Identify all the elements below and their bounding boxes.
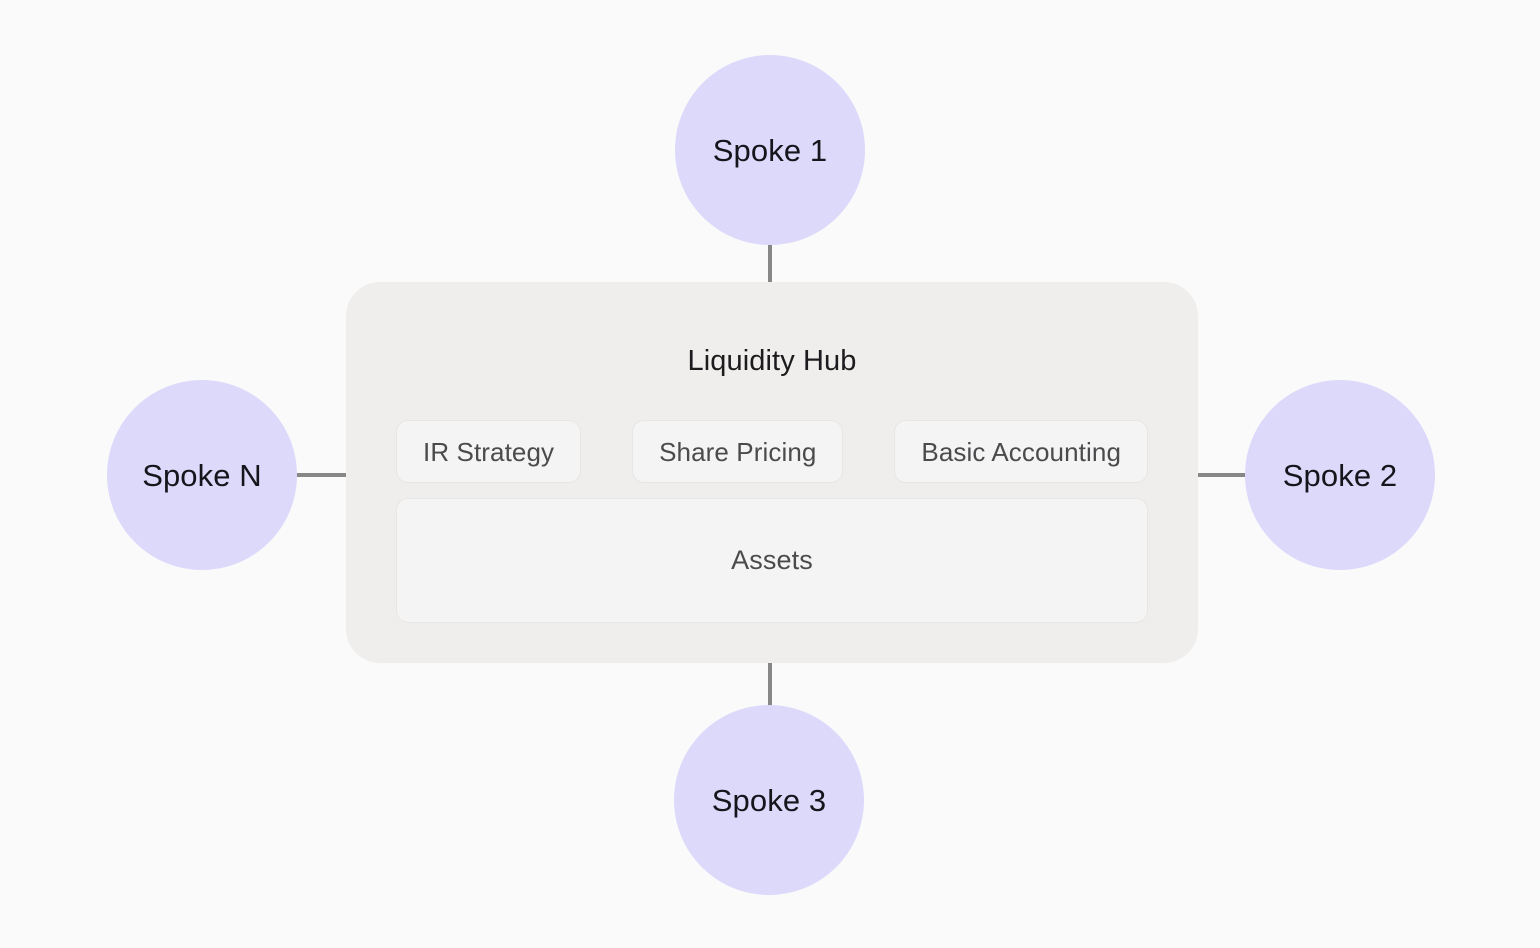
connector-hub-to-spoke-2 bbox=[1196, 473, 1248, 477]
connector-hub-to-spoke-1 bbox=[768, 243, 772, 285]
hub-capability-basic-accounting[interactable]: Basic Accounting bbox=[894, 420, 1148, 483]
hub-capability-row: IR Strategy Share Pricing Basic Accounti… bbox=[396, 420, 1148, 483]
spoke-node-2-label: Spoke 2 bbox=[1283, 460, 1397, 491]
spoke-node-3[interactable]: Spoke 3 bbox=[674, 705, 864, 895]
connector-hub-to-spoke-3 bbox=[768, 661, 772, 707]
hub-capability-basic-accounting-label: Basic Accounting bbox=[921, 439, 1121, 465]
hub-capability-share-pricing-label: Share Pricing bbox=[659, 439, 816, 465]
connector-hub-to-spoke-n bbox=[296, 473, 348, 477]
spoke-node-2[interactable]: Spoke 2 bbox=[1245, 380, 1435, 570]
hub-capability-ir-strategy[interactable]: IR Strategy bbox=[396, 420, 581, 483]
hub-capability-ir-strategy-label: IR Strategy bbox=[423, 439, 554, 465]
spoke-node-n-label: Spoke N bbox=[142, 460, 262, 491]
hub-assets-box[interactable]: Assets bbox=[396, 498, 1148, 623]
liquidity-hub-container[interactable]: Liquidity Hub IR Strategy Share Pricing … bbox=[346, 282, 1198, 663]
spoke-node-1[interactable]: Spoke 1 bbox=[675, 55, 865, 245]
hub-title: Liquidity Hub bbox=[346, 347, 1198, 376]
spoke-node-3-label: Spoke 3 bbox=[712, 785, 826, 816]
hub-and-spoke-diagram: Spoke 1 Spoke 2 Spoke 3 Spoke N Liquidit… bbox=[0, 0, 1540, 948]
hub-capability-share-pricing[interactable]: Share Pricing bbox=[632, 420, 843, 483]
spoke-node-1-label: Spoke 1 bbox=[713, 135, 827, 166]
hub-assets-label: Assets bbox=[731, 547, 813, 574]
spoke-node-n[interactable]: Spoke N bbox=[107, 380, 297, 570]
